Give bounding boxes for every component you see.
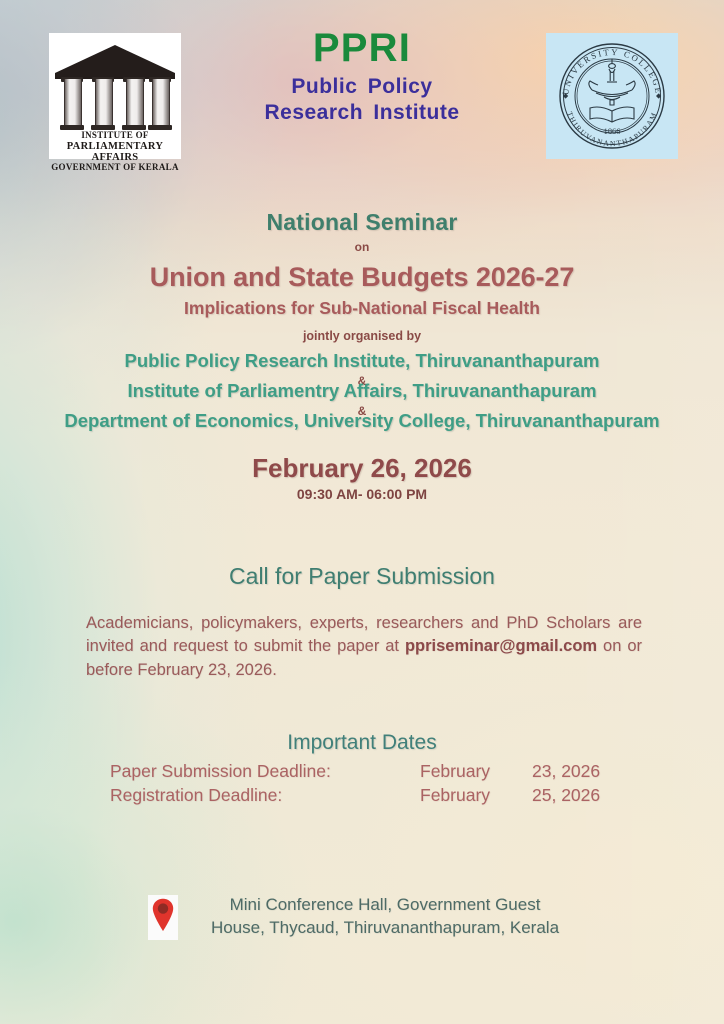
call-for-papers-heading: Call for Paper Submission [0, 563, 724, 590]
column-icon [64, 79, 82, 127]
table-row: Registration Deadline: February 25, 2026 [110, 784, 620, 808]
organiser-item-3: Department of Economics, University Coll… [0, 410, 724, 432]
venue-address-line-2: House, Thycaud, Thiruvananthapuram, Kera… [196, 916, 574, 939]
seminar-label: National Seminar [0, 209, 724, 236]
important-dates-heading: Important Dates [0, 731, 724, 755]
seminar-subtitle: Implications for Sub-National Fiscal Hea… [0, 298, 724, 319]
deadline-month: February [420, 760, 532, 784]
submission-email[interactable]: ppriseminar@gmail.com [405, 637, 597, 655]
column-icon [126, 79, 144, 127]
venue-block: Mini Conference Hall, Government Guest H… [148, 893, 574, 940]
ipa-caption-line-1: INSTITUTE OF [49, 131, 181, 141]
column-icon [95, 79, 113, 127]
deadline-label: Registration Deadline: [110, 784, 420, 808]
important-dates-table: Paper Submission Deadline: February 23, … [110, 760, 620, 808]
venue-address: Mini Conference Hall, Government Guest H… [196, 893, 574, 939]
column-base-icon [148, 125, 172, 130]
column-icon [152, 79, 170, 127]
ppri-subtitle-line-1: Public Policy [222, 74, 502, 100]
venue-address-line-1: Mini Conference Hall, Government Guest [196, 893, 574, 916]
event-date: February 26, 2026 [0, 453, 724, 484]
organiser-item-2: Institute of Parliamentry Affairs, Thiru… [0, 380, 724, 402]
event-time: 09:30 AM- 06:00 PM [0, 486, 724, 502]
deadline-day: 25, 2026 [532, 784, 620, 808]
table-row: Paper Submission Deadline: February 23, … [110, 760, 620, 784]
ipa-logo-caption: INSTITUTE OF PARLIAMENTARY AFFAIRS GOVER… [49, 131, 181, 173]
university-college-seal: UNIVERSITY COLLEGE THIRUVANANTHAPURAM [546, 33, 678, 159]
seminar-title: Union and State Budgets 2026-27 [0, 262, 724, 293]
ppri-logo: PPRI Public Policy Research Institute [222, 28, 502, 125]
ppri-acronym: PPRI [222, 28, 502, 68]
svg-text:1866: 1866 [604, 127, 621, 136]
deadline-day: 23, 2026 [532, 760, 620, 784]
ppri-subtitle-line-2: Research Institute [222, 100, 502, 126]
deadline-month: February [420, 784, 532, 808]
deadline-label: Paper Submission Deadline: [110, 760, 420, 784]
location-pin-icon [148, 895, 178, 940]
seminar-poster: INSTITUTE OF PARLIAMENTARY AFFAIRS GOVER… [0, 0, 724, 1024]
organiser-item-1: Public Policy Research Institute, Thiruv… [0, 350, 724, 372]
seminar-connector: on [0, 240, 724, 254]
call-for-papers-body: Academicians, policymakers, experts, res… [86, 612, 642, 682]
ipa-caption-line-3: GOVERNMENT OF KERALA [49, 163, 181, 173]
poster-header: INSTITUTE OF PARLIAMENTARY AFFAIRS GOVER… [0, 0, 724, 170]
organisers-intro: jointly organised by [0, 329, 724, 343]
ipa-caption-line-2: PARLIAMENTARY AFFAIRS [49, 141, 181, 164]
institute-of-parliamentary-affairs-logo: INSTITUTE OF PARLIAMENTARY AFFAIRS GOVER… [49, 33, 181, 159]
pediment-shape [55, 45, 175, 73]
